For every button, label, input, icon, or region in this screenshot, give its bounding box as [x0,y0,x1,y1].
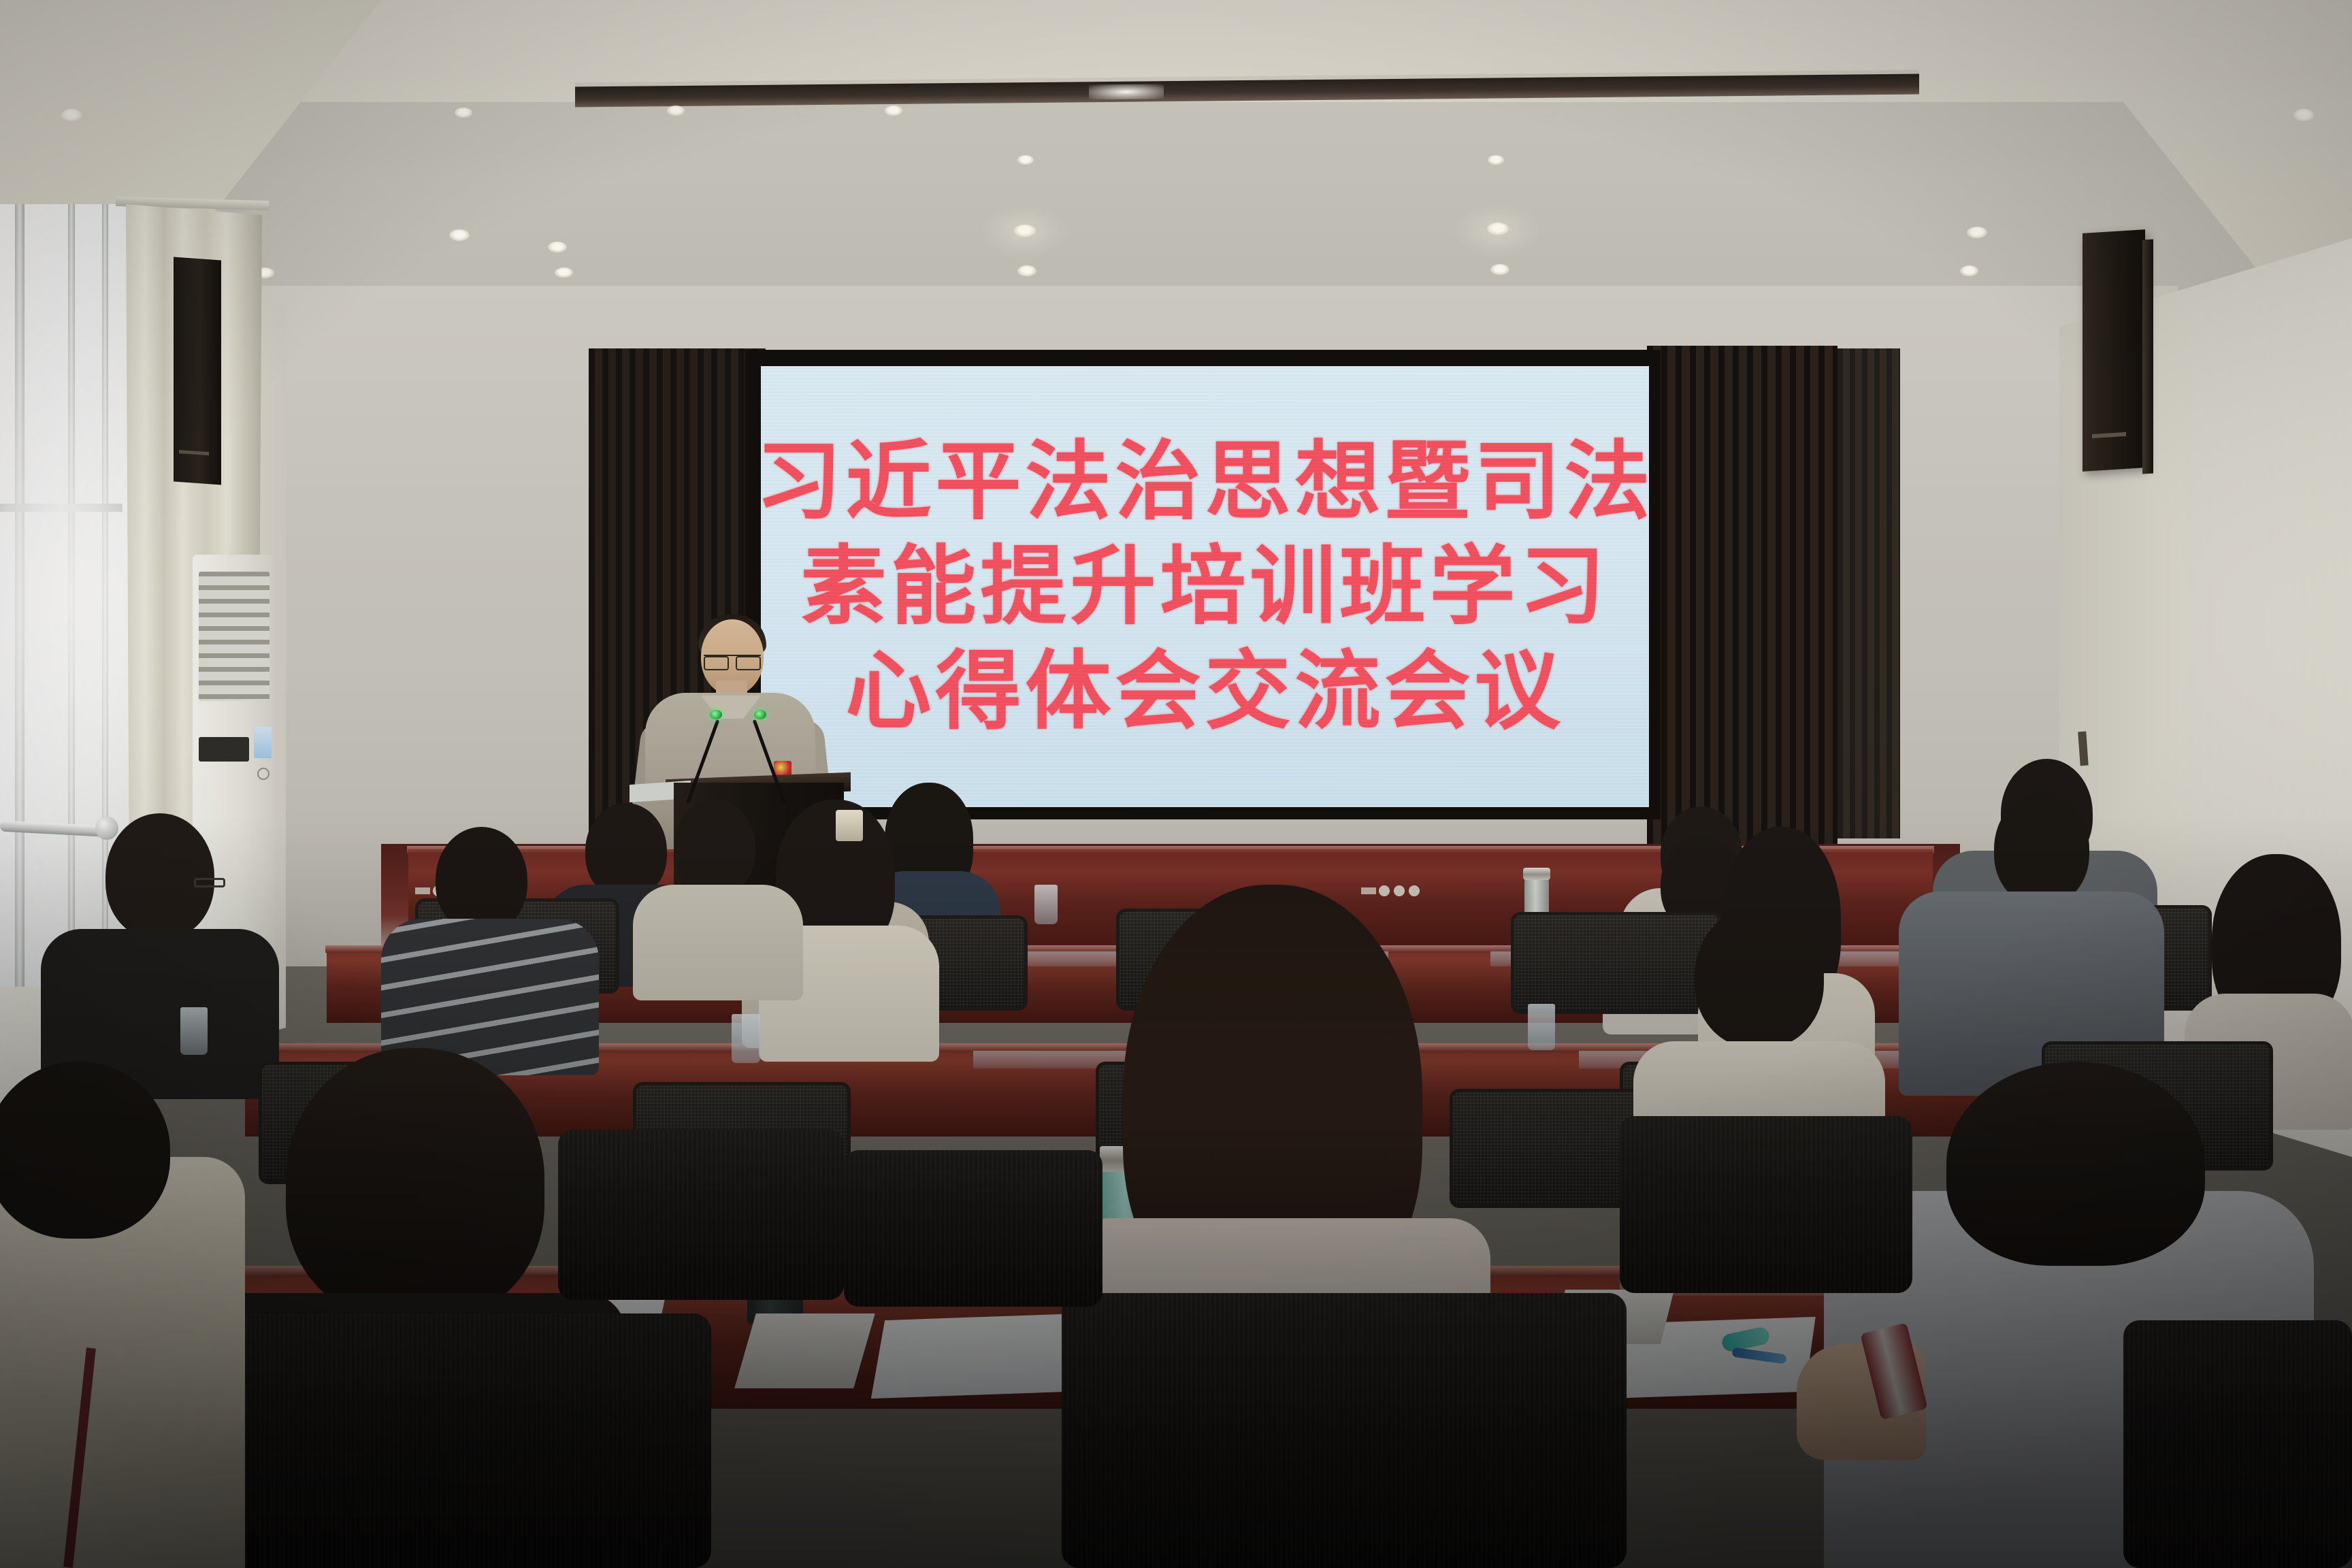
downlight-halo [1453,203,1541,257]
attendee-left-striped-head [436,827,527,932]
attendee-front-left-head [286,1048,544,1320]
attendee-left-back-head [585,803,667,898]
banner-line-3: 心得体会交流会议 [846,639,1565,744]
downlight-ceiling [548,242,567,252]
downlight-ceiling [1488,155,1504,165]
downlight-ceiling [555,267,573,278]
hair-clip-icon [836,810,863,841]
chair-back[interactable] [1511,912,1722,1014]
thermos-cap [1523,868,1550,880]
attendee-left-glasses-head [105,813,214,939]
downlight-ceiling [2293,109,2314,121]
glasses-icon-left-attendee [194,878,225,887]
downlight-ceiling [455,108,472,118]
downlight-ceiling [61,109,82,121]
paper-sheet [871,1313,1082,1399]
wall-speaker-right-side [2142,240,2153,474]
downlight-ceiling [885,105,902,116]
chair-front-right[interactable] [2123,1320,2352,1568]
desk-emblem-icon [1361,885,1436,897]
wall-speaker-left [174,257,221,485]
water-glass [180,1007,208,1055]
conference-room-photo: 习近平法治思想暨司法 素能提升培训班学习 心得体会交流会议 [0,0,2352,1568]
attendee-right-white-blouse-head [1695,905,1824,1048]
downlight-ceiling [667,105,685,116]
downlight-ceiling [449,229,470,241]
banner-line-1: 习近平法治思想暨司法 [761,429,1649,534]
wall-speaker-right [2082,229,2145,472]
projection-screen[interactable]: 习近平法治思想暨司法 素能提升培训班学习 心得体会交流会议 [761,366,1649,807]
handrail-knob [95,817,118,840]
chair-row2-left[interactable] [558,1130,844,1300]
recess-light-glow [1089,84,1164,99]
attendee-right-grey-head [1994,793,2089,905]
chair-front-center[interactable] [1062,1293,1627,1568]
downlight-ceiling [1490,264,1509,275]
air-conditioner-label [254,727,272,758]
attendee-left-front-head [674,800,755,895]
microphone-right-indicator [754,710,766,719]
acoustic-slat-panel-right [1647,346,1837,856]
attendee-left-front-torso [633,885,803,1000]
attendee-right-front-grey-tee-head [1946,1062,2205,1266]
air-conditioner-display-panel[interactable] [199,737,249,762]
chair-front-left[interactable] [174,1313,711,1568]
air-conditioner-grill [199,572,269,701]
chair-row2-right[interactable] [1620,1116,1912,1293]
glasses-icon [704,655,761,666]
downlight-ceiling [1967,227,1987,238]
air-conditioner-logo-icon [257,768,269,780]
microphone-left-indicator [710,710,722,719]
water-glass [1528,1004,1555,1050]
water-glass [732,1014,760,1063]
downlight-halo [980,204,1068,259]
downlight-ceiling [1017,155,1034,165]
water-glass [1034,885,1058,924]
downlight-ceiling [1017,265,1036,276]
acoustic-slat-panel-right-far [1837,348,1900,838]
banner-line-2: 素能提升培训班学习 [801,534,1610,639]
chair-row2-center[interactable] [844,1150,1102,1307]
downlight-ceiling [1960,265,1978,276]
notebook [734,1313,875,1388]
